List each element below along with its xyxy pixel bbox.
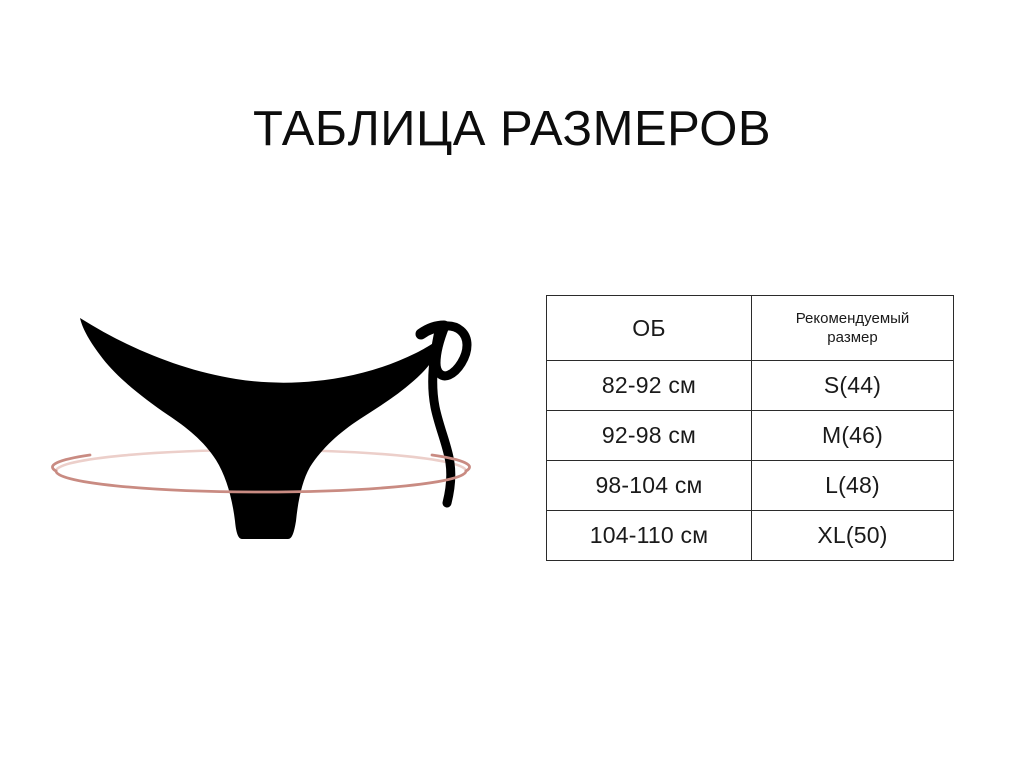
table-row: 92-98 см M(46) xyxy=(547,411,954,461)
table-row: 98-104 см L(48) xyxy=(547,461,954,511)
cell-size-label: L(48) xyxy=(752,461,954,511)
header-size-line2: размер xyxy=(827,329,877,346)
table-row: 104-110 см XL(50) xyxy=(547,511,954,561)
cell-hip-range: 82-92 см xyxy=(547,361,752,411)
size-chart-table: ОБ Рекомендуемый размер 82-92 см S(44) 9… xyxy=(546,295,954,561)
header-size-line1: Рекомендуемый xyxy=(796,310,910,327)
header-cell-hip: ОБ xyxy=(547,296,752,361)
cell-size-label: XL(50) xyxy=(752,511,954,561)
size-table-container: ОБ Рекомендуемый размер 82-92 см S(44) 9… xyxy=(546,295,935,561)
cell-hip-range: 92-98 см xyxy=(547,411,752,461)
header-cell-recommended-size: Рекомендуемый размер xyxy=(752,296,954,361)
cell-size-label: M(46) xyxy=(752,411,954,461)
page-title: ТАБЛИЦА РАЗМЕРОВ xyxy=(0,104,1024,155)
panty-body xyxy=(80,318,444,539)
table-header-row: ОБ Рекомендуемый размер xyxy=(547,296,954,361)
thong-panty-silhouette xyxy=(30,295,510,565)
table-row: 82-92 см S(44) xyxy=(547,361,954,411)
product-illustration xyxy=(30,295,510,565)
cell-hip-range: 104-110 см xyxy=(547,511,752,561)
cell-size-label: S(44) xyxy=(752,361,954,411)
cell-hip-range: 98-104 см xyxy=(547,461,752,511)
